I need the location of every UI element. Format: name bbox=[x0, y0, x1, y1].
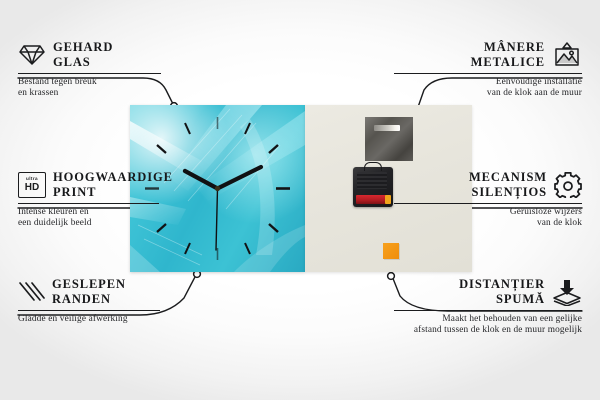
mechanism-grill bbox=[357, 172, 387, 189]
feature-title-line-2: GLAS bbox=[53, 55, 113, 70]
metal-hanger-plate bbox=[365, 117, 413, 161]
feature-desc-line-1: Bestand tegen breuk bbox=[18, 77, 188, 88]
spacer-stack-icon bbox=[552, 279, 582, 306]
feature-head: GESLEPEN RANDEN bbox=[18, 277, 188, 307]
feature-desc-line-1: Gladde en veilige afwerking bbox=[18, 314, 188, 325]
feature-rule bbox=[394, 73, 582, 74]
feature-desc-line-2: van de klok bbox=[394, 218, 582, 229]
hour-marker bbox=[245, 243, 250, 254]
gear-icon bbox=[554, 172, 582, 198]
feature-head: DISTANȚIER SPUMĂ bbox=[394, 277, 582, 307]
feature-desc-line-2: van de klok aan de muur bbox=[394, 88, 582, 99]
feature-desc-line-2: een duidelijk beeld bbox=[18, 218, 188, 229]
infographic-canvas: GEHARD GLAS Bestand tegen breuk en krass… bbox=[0, 0, 600, 400]
feature-title-line-1: GESLEPEN bbox=[52, 277, 126, 292]
feature-title-line-1: HOOGWAARDIGE bbox=[53, 170, 173, 185]
feature-title-line-1: DISTANȚIER bbox=[459, 277, 545, 292]
feature-title-line-2: METALICE bbox=[471, 55, 545, 70]
feature-title-line-2: PRINT bbox=[53, 185, 173, 200]
second-hand bbox=[216, 189, 218, 251]
hour-marker bbox=[269, 224, 278, 232]
feature-desc-line-2: afstand tussen de klok en de muur mogeli… bbox=[394, 325, 582, 336]
ultra-hd-large-text: HD bbox=[25, 183, 39, 193]
feature-rule bbox=[394, 203, 582, 204]
feature-hoogwaardige-print: ultra HD HOOGWAARDIGE PRINT Intense kleu… bbox=[18, 170, 188, 230]
feature-desc-line-1: Maakt het behouden van een gelijke bbox=[394, 314, 582, 325]
feature-desc-line-1: Intense kleuren en bbox=[18, 207, 188, 218]
feature-head: GEHARD GLAS bbox=[18, 40, 188, 70]
diagonal-lines-icon bbox=[18, 280, 45, 304]
feature-title-line-2: SILENȚIOS bbox=[469, 185, 547, 200]
feature-title-line-1: MÂNERE bbox=[471, 40, 545, 55]
battery bbox=[356, 195, 387, 204]
hour-marker bbox=[185, 123, 190, 134]
feature-rule bbox=[18, 310, 160, 311]
feature-head: MECANISM SILENȚIOS bbox=[394, 170, 582, 200]
feature-title-line-2: SPUMĂ bbox=[459, 292, 545, 307]
clock-mechanism-box bbox=[353, 167, 393, 207]
hour-hand bbox=[185, 171, 218, 189]
framed-picture-icon bbox=[552, 42, 582, 68]
feature-title-line-1: GEHARD bbox=[53, 40, 113, 55]
feature-geslepen-randen: GESLEPEN RANDEN Gladde en veilige afwerk… bbox=[18, 277, 188, 325]
feature-desc-line-1: Eenvoudige installatie bbox=[394, 77, 582, 88]
feature-head: ultra HD HOOGWAARDIGE PRINT bbox=[18, 170, 188, 200]
feature-title-line-1: MECANISM bbox=[469, 170, 547, 185]
ultra-hd-icon: ultra HD bbox=[18, 172, 46, 198]
feature-gehard-glas: GEHARD GLAS Bestand tegen breuk en krass… bbox=[18, 40, 188, 100]
diamond-icon bbox=[18, 43, 46, 67]
feature-desc-line-1: Geruisloze wijzers bbox=[394, 207, 582, 218]
hanger-slot bbox=[374, 125, 400, 131]
feature-distantier-spuma: DISTANȚIER SPUMĂ Maakt het behouden van … bbox=[394, 277, 582, 337]
clock-center-cap bbox=[215, 186, 220, 191]
feature-title-line-2: RANDEN bbox=[52, 292, 126, 307]
feature-rule bbox=[394, 310, 582, 311]
feature-rule bbox=[18, 73, 161, 74]
feature-head: MÂNERE METALICE bbox=[394, 40, 582, 70]
hanger-loop bbox=[364, 162, 382, 171]
hour-marker bbox=[185, 243, 190, 254]
battery-positive-terminal bbox=[385, 195, 391, 204]
hour-marker bbox=[245, 123, 250, 134]
foam-spacer bbox=[383, 243, 399, 259]
feature-desc-line-2: en krassen bbox=[18, 88, 188, 99]
feature-manere-metalice: MÂNERE METALICE Eenvoudige installatie v… bbox=[394, 40, 582, 100]
feature-mecanism-silentios: MECANISM SILENȚIOS Geruisloze wijzers va… bbox=[394, 170, 582, 230]
hour-marker bbox=[269, 145, 278, 153]
hour-marker bbox=[157, 145, 166, 153]
feature-rule bbox=[18, 203, 159, 204]
minute-hand bbox=[218, 167, 262, 189]
